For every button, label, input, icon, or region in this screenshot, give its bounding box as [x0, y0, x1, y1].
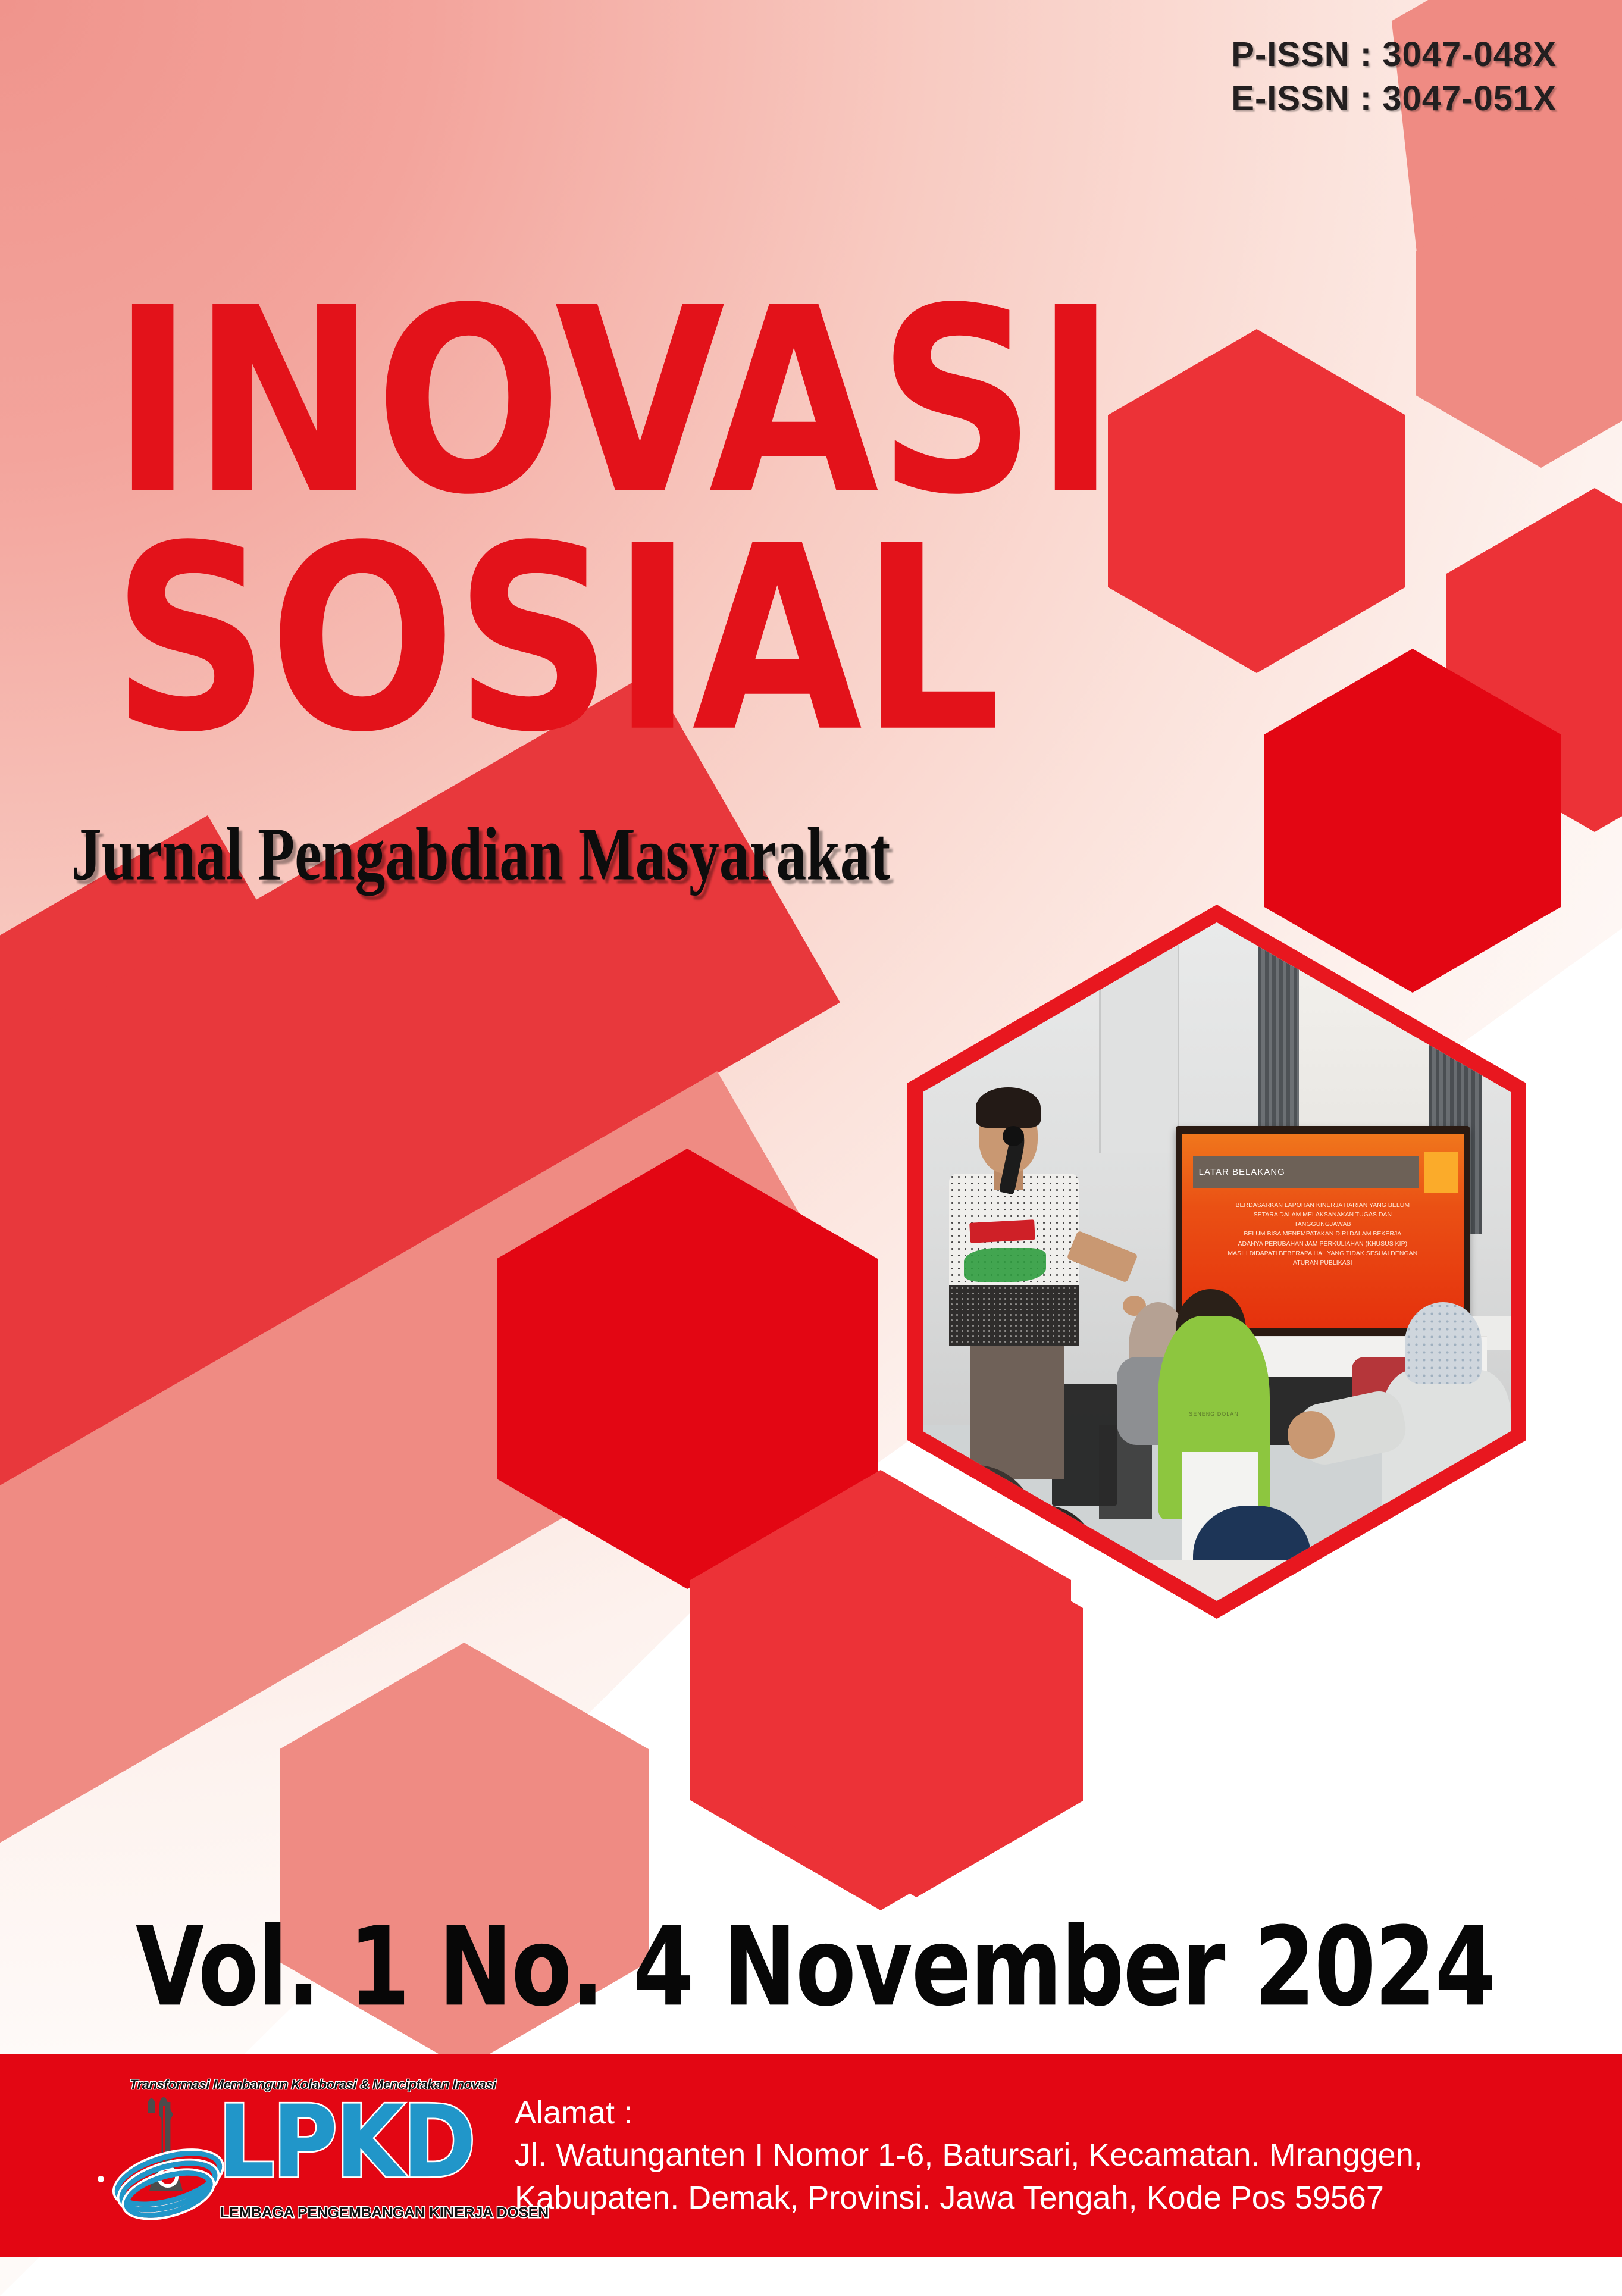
lpkd-logo-mark-icon	[112, 2102, 219, 2221]
footer-content: Transformasi Membangun Kolaborasi & Menc…	[0, 2054, 1622, 2257]
slide-body-line: BELUM BISA MENEMPATAKAN DIRI DALAM BEKER…	[1198, 1229, 1446, 1238]
issn-electronic: E-ISSN : 3047-051X	[1231, 77, 1557, 121]
slide-title-bar: LATAR BELAKANG	[1193, 1156, 1419, 1188]
address-label: Alamat :	[515, 2092, 1622, 2134]
issn-block: P-ISSN : 3047-048X E-ISSN : 3047-051X	[1231, 33, 1557, 121]
photo-foreground-table	[923, 1560, 1511, 1601]
address-line-1: Jl. Watunganten I Nomor 1-6, Batursari, …	[515, 2134, 1622, 2176]
slide-body-line: BERDASARKAN LAPORAN KINERJA HARIAN YANG …	[1198, 1200, 1446, 1210]
photo-speaker-shirt-graphic	[964, 1248, 1046, 1282]
slide-body-line: MASIH DIDAPATI BEBERAPA HAL YANG TIDAK S…	[1198, 1249, 1446, 1258]
slide-body-line: ADANYA PERUBAHAN JAM PERKULIAHAN (KHUSUS…	[1198, 1239, 1446, 1249]
slide-body: BERDASARKAN LAPORAN KINERJA HARIAN YANG …	[1198, 1200, 1446, 1268]
photo-microphone-head	[1003, 1126, 1024, 1146]
photo-speaker-trousers	[970, 1343, 1064, 1479]
address-line-2: Kabupaten. Demak, Provinsi. Jawa Tengah,…	[515, 2177, 1622, 2219]
photo-audience-elbow	[1288, 1411, 1335, 1459]
journal-title-line-1: INOVASI	[112, 298, 1245, 507]
journal-cover: LATAR BELAKANG BERDASARKAN LAPORAN KINER…	[0, 0, 1622, 2296]
slide-body-line: TANGGUNGJAWAB	[1198, 1219, 1446, 1229]
lpkd-logo: Transformasi Membangun Kolaborasi & Menc…	[101, 2066, 470, 2245]
lpkd-acronym: LPKD	[218, 2092, 474, 2192]
lpkd-expansion: LEMBAGA PENGEMBANGAN KINERJA DOSEN	[220, 2204, 549, 2222]
photo-audience-peci	[1405, 1302, 1481, 1384]
photo-jacket-text: SENENG DOLAN	[1164, 1411, 1264, 1417]
photo-audience-member	[1382, 1370, 1511, 1560]
publisher-address: Alamat : Jl. Watunganten I Nomor 1-6, Ba…	[515, 2092, 1622, 2219]
issue-volume-text: Vol. 1 No. 4 November 2024	[136, 1904, 1495, 2031]
slide-heading: LATAR BELAKANG	[1193, 1167, 1285, 1177]
slide-body-line: ATURAN PUBLIKASI	[1198, 1258, 1446, 1268]
slide-body-line: SETARA DALAM MELAKSANAKAN TUGAS DAN	[1198, 1210, 1446, 1219]
photo-speaker-shirt-logo	[969, 1219, 1035, 1243]
monument-pin-icon	[148, 2098, 155, 2113]
issn-print: P-ISSN : 3047-048X	[1231, 33, 1557, 77]
photo-speaker-hair	[976, 1087, 1041, 1128]
slide-accent-square	[1424, 1152, 1458, 1192]
photo-speaker-shirt-lower	[949, 1285, 1078, 1347]
journal-subtitle: Jurnal Pengabdian Masyarakat	[71, 811, 890, 898]
photo-audience-foreground	[923, 1465, 1041, 1601]
journal-title-line-2: SOSIAL	[112, 535, 1245, 745]
logo-accent-dot	[98, 2176, 104, 2182]
cover-photo-hexagon: LATAR BELAKANG BERDASARKAN LAPORAN KINER…	[907, 905, 1526, 1619]
journal-title-block: INOVASI SOSIAL	[112, 298, 1123, 696]
